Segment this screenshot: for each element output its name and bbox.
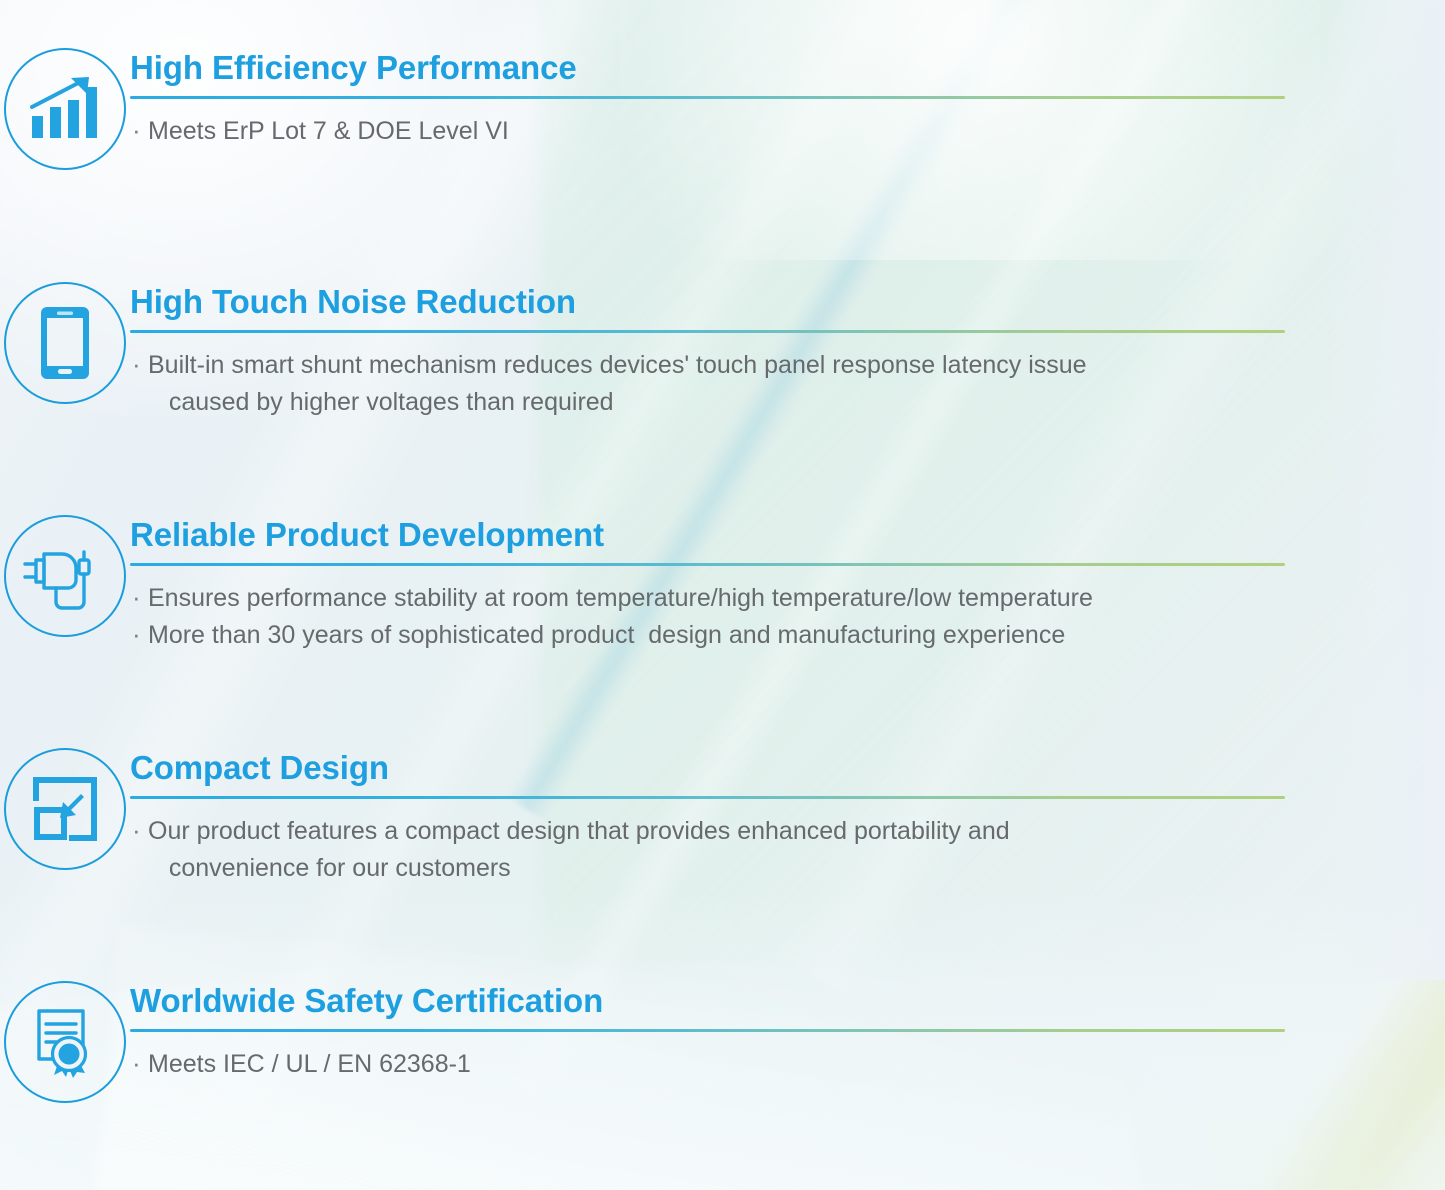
feature-divider: [130, 796, 1285, 799]
smartphone-icon: [39, 305, 91, 381]
feature-divider: [130, 96, 1285, 99]
feature-heading: High Efficiency Performance: [130, 50, 1365, 87]
icon-circle: [4, 48, 126, 170]
feature-divider: [130, 330, 1285, 333]
feature-bullet: Ensures performance stability at room te…: [130, 580, 1365, 617]
icon-circle: [4, 748, 126, 870]
feature-heading: Reliable Product Development: [130, 517, 1365, 554]
power-adapter-icon: [22, 540, 108, 612]
resize-compact-icon: [32, 776, 98, 842]
feature-divider: [130, 1029, 1285, 1032]
feature-item-compact-design: Compact Design Our product features a co…: [0, 744, 1445, 887]
feature-heading: High Touch Noise Reduction: [130, 284, 1365, 321]
icon-container: [0, 511, 130, 637]
feature-body: Worldwide Safety Certification Meets IEC…: [130, 977, 1445, 1083]
feature-heading: Compact Design: [130, 750, 1365, 787]
feature-body: Compact Design Our product features a co…: [130, 744, 1445, 887]
feature-bullet: Our product features a compact design th…: [130, 813, 1365, 887]
feature-bullets: Meets IEC / UL / EN 62368-1: [130, 1046, 1365, 1083]
feature-bullets: Meets ErP Lot 7 & DOE Level VI: [130, 113, 1365, 150]
feature-item-high-efficiency-performance: High Efficiency Performance Meets ErP Lo…: [0, 44, 1445, 170]
icon-container: [0, 977, 130, 1103]
feature-divider: [130, 563, 1285, 566]
bar-chart-growth-icon: [28, 74, 102, 144]
feature-bullets: Our product features a compact design th…: [130, 813, 1365, 887]
icon-container: [0, 744, 130, 870]
feature-bullet: Meets ErP Lot 7 & DOE Level VI: [130, 113, 1365, 150]
feature-bullets: Ensures performance stability at room te…: [130, 580, 1365, 654]
icon-circle: [4, 282, 126, 404]
feature-item-reliable-product-development: Reliable Product Development Ensures per…: [0, 511, 1445, 654]
icon-container: [0, 278, 130, 404]
icon-container: [0, 44, 130, 170]
feature-bullet: Built-in smart shunt mechanism reduces d…: [130, 347, 1365, 421]
feature-bullets: Built-in smart shunt mechanism reduces d…: [130, 347, 1365, 421]
feature-list: High Efficiency Performance Meets ErP Lo…: [0, 0, 1445, 1190]
feature-highlights-page: High Efficiency Performance Meets ErP Lo…: [0, 0, 1445, 1190]
icon-circle: [4, 515, 126, 637]
feature-item-high-touch-noise-reduction: High Touch Noise Reduction Built-in smar…: [0, 278, 1445, 421]
feature-heading: Worldwide Safety Certification: [130, 983, 1365, 1020]
feature-body: High Touch Noise Reduction Built-in smar…: [130, 278, 1445, 421]
feature-bullet: Meets IEC / UL / EN 62368-1: [130, 1046, 1365, 1083]
feature-body: High Efficiency Performance Meets ErP Lo…: [130, 44, 1445, 150]
feature-bullet: More than 30 years of sophisticated prod…: [130, 617, 1365, 654]
feature-item-worldwide-safety-certification: Worldwide Safety Certification Meets IEC…: [0, 977, 1445, 1103]
icon-circle: [4, 981, 126, 1103]
certificate-seal-icon: [29, 1005, 101, 1079]
feature-body: Reliable Product Development Ensures per…: [130, 511, 1445, 654]
